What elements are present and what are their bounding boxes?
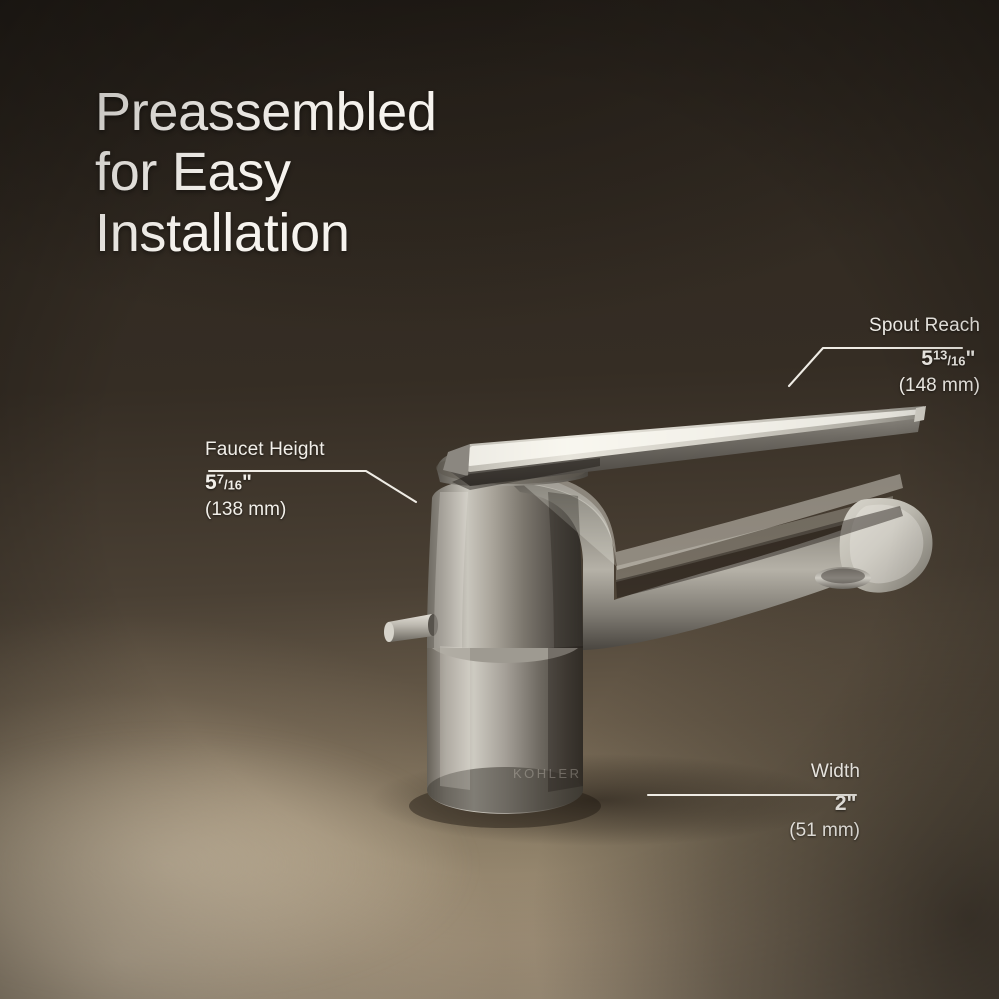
vignette-overlay [0,0,999,999]
product-image-canvas: KOHLER Preassembled for Easy Installatio… [0,0,999,999]
